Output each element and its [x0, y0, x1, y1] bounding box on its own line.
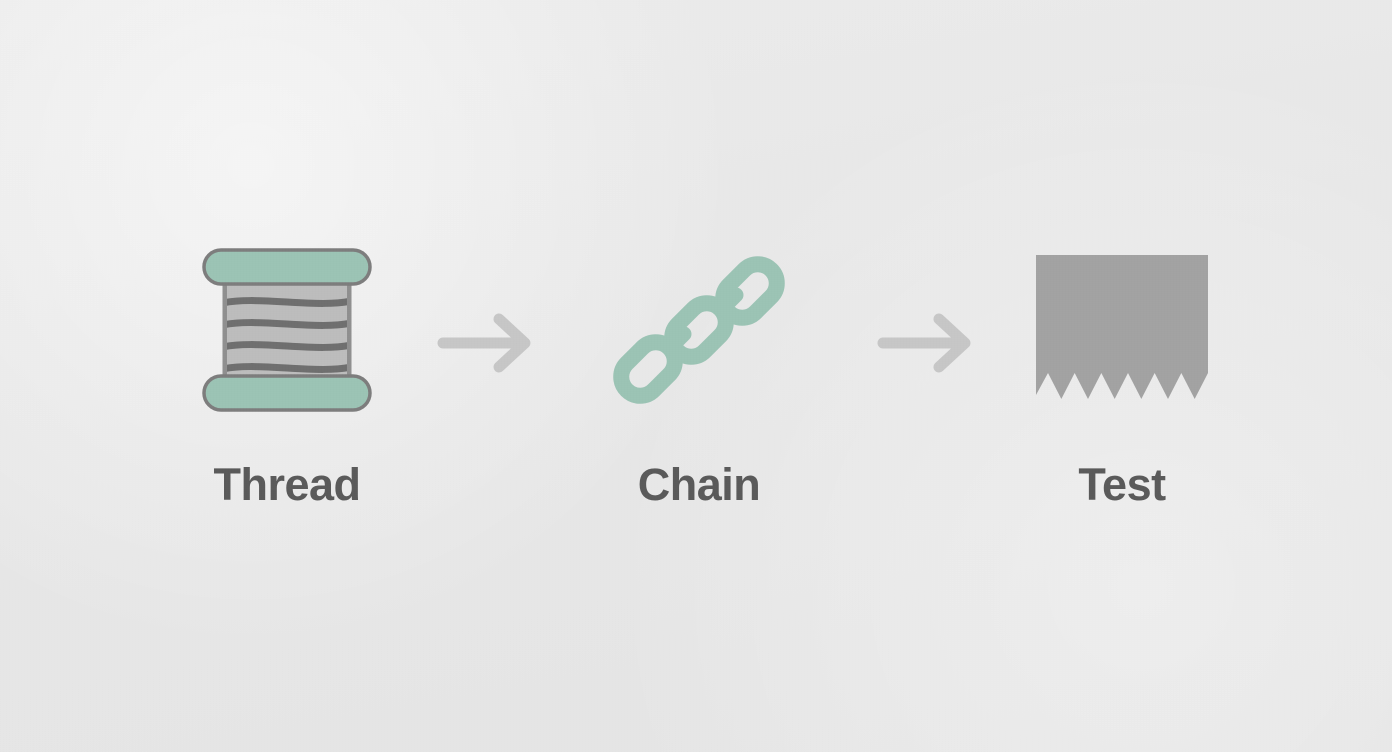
thread-spool-svg — [198, 246, 376, 414]
process-flow-row: Thread — [0, 0, 1392, 752]
flow-step-test[interactable]: Test — [972, 240, 1272, 540]
flow-step-label-test: Test — [1078, 462, 1165, 507]
arrow-right-svg — [432, 306, 542, 380]
spool-flange-bottom — [204, 376, 370, 410]
chain-link-group — [613, 256, 784, 403]
flow-step-label-thread: Thread — [213, 462, 360, 507]
arrow-right-icon-thread-to-chain — [432, 306, 542, 380]
arrow-right-icon-chain-to-test — [872, 306, 982, 380]
fabric-swatch-svg — [1034, 251, 1210, 409]
flow-step-chain[interactable]: Chain — [549, 240, 849, 540]
spool-flange-top — [204, 250, 370, 284]
chain-links-svg — [604, 246, 794, 414]
thread-spool-icon — [187, 240, 387, 420]
chain-links-icon — [599, 240, 799, 420]
flow-step-thread[interactable]: Thread — [137, 240, 437, 540]
diagram-canvas: Thread — [0, 0, 1392, 752]
fabric-swatch-shape — [1036, 255, 1208, 399]
fabric-swatch-icon — [1022, 240, 1222, 420]
flow-step-label-chain: Chain — [638, 462, 761, 507]
arrow-right-svg-2 — [872, 306, 982, 380]
